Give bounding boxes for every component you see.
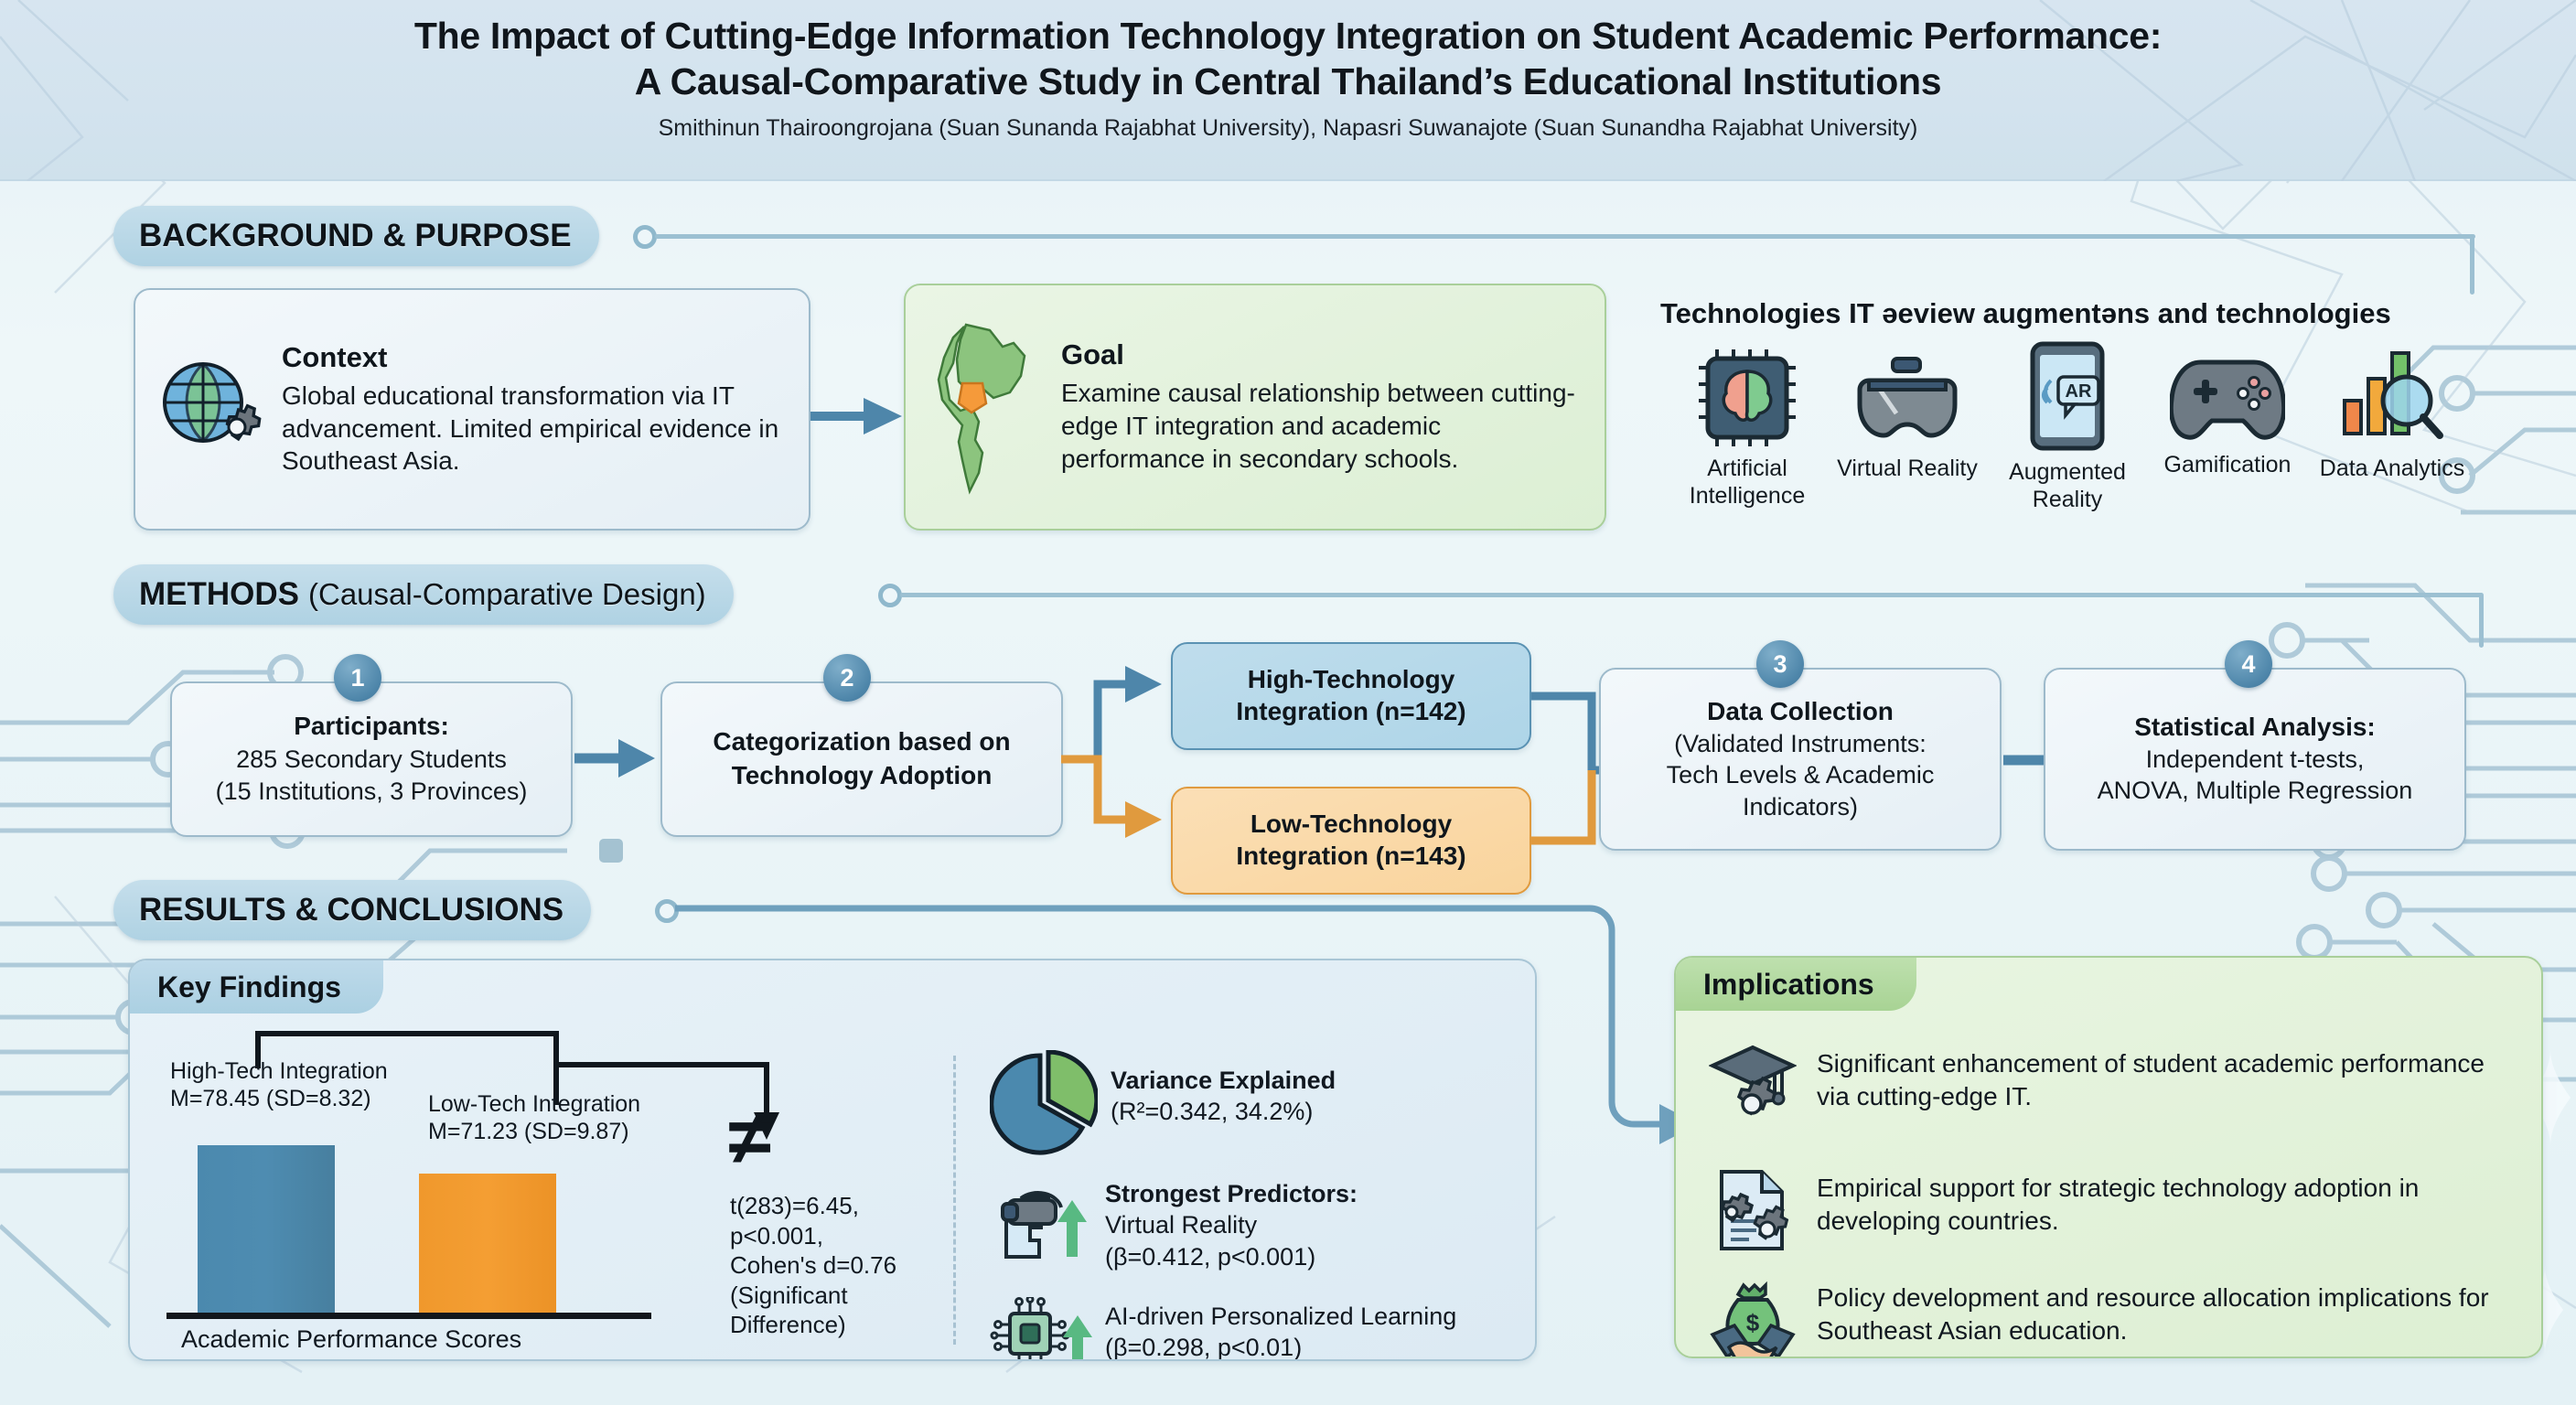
implication-text-2: Empirical support for strategic technolo… <box>1817 1166 2512 1239</box>
section-sublabel-methods: (Causal-Comparative Design) <box>308 577 706 612</box>
context-body: Global educational transformation via IT… <box>282 380 789 477</box>
bar-label-high-tech-stats: M=78.45 (SD=8.32) <box>170 1086 371 1111</box>
methods-rail-corner <box>2479 593 2484 648</box>
methods-step-4-card: Statistical Analysis: Independent t-test… <box>2044 668 2466 851</box>
arrow-step1-to-step2 <box>574 732 659 785</box>
poster-title-line-2: A Causal-Comparative Study in Central Th… <box>0 59 2576 104</box>
predictor-row-vr: Strongest Predictors: Virtual Reality (β… <box>990 1176 1511 1272</box>
background-rail-corner <box>2470 234 2474 295</box>
group-low-tech-card: Low-Technology Integration (n=143) <box>1171 787 1531 895</box>
step-badge-3: 3 <box>1756 640 1804 688</box>
section-label-methods: METHODS <box>139 576 299 613</box>
step-1-line-2: (15 Institutions, 3 Provinces) <box>216 777 528 807</box>
step-1-title: Participants: <box>294 711 449 743</box>
ai-chip-icon <box>990 1297 1092 1361</box>
step-4-line-2: ANOVA, Multiple Regression <box>2098 776 2413 806</box>
technology-item-ai: Artificial Intelligence <box>1660 348 1834 509</box>
implication-row-2: Empirical support for strategic technolo… <box>1709 1166 2514 1254</box>
group-low-tech-line-1: Low-Technology <box>1250 809 1452 841</box>
methods-rail-node <box>878 584 902 607</box>
group-high-tech-line-2: Integration (n=142) <box>1236 696 1465 728</box>
poster-header: The Impact of Cutting-Edge Information T… <box>0 0 2576 181</box>
context-heading: Context <box>282 341 789 374</box>
group-high-tech-line-1: High-Technology <box>1248 664 1455 696</box>
technology-label-analytics: Data Analytics <box>2305 456 2479 483</box>
pie-chart-icon <box>990 1050 1098 1158</box>
vr-head-icon <box>990 1176 1092 1260</box>
technology-item-ar: AR Augmented Reality <box>1980 340 2154 513</box>
technology-label-ar: Augmented Reality <box>1980 459 2154 513</box>
methods-step-2-card: Categorization based on Technology Adopt… <box>660 681 1063 837</box>
poster-canvas: The Impact of Cutting-Edge Information T… <box>0 0 2576 1405</box>
implication-row-3: $ Policy development and resource alloca… <box>1709 1278 2514 1358</box>
svg-text:$: $ <box>1746 1309 1760 1336</box>
implications-tab-label: Implications <box>1703 968 1874 1002</box>
predictor-ai-value: (β=0.298, p<0.01) <box>1105 1334 1302 1361</box>
svg-text:AR: AR <box>2066 381 2092 402</box>
technology-label-gamification: Gamification <box>2141 452 2314 479</box>
thailand-map-icon <box>926 316 1045 499</box>
ar-phone-icon: AR <box>2029 340 2106 452</box>
poster-authors: Smithinun Thairoongrojana (Suan Sunanda … <box>0 115 2576 142</box>
methods-step-3-card: Data Collection (Validated Instruments: … <box>1599 668 2002 851</box>
goal-card: Goal Examine causal relationship between… <box>904 284 1606 531</box>
step-badge-1: 1 <box>334 654 381 702</box>
step-badge-2: 2 <box>823 654 871 702</box>
ai-chip-brain-icon <box>1697 348 1798 448</box>
branch-connector-to-groups <box>1061 640 1171 851</box>
predictor-row-ai: AI-driven Personalized Learning (β=0.298… <box>990 1297 1520 1361</box>
implication-text-3: Policy development and resource allocati… <box>1817 1278 2512 1348</box>
step-3-line-3: Indicators) <box>1743 792 1858 822</box>
goal-heading: Goal <box>1061 338 1584 371</box>
bar-label-high-tech-name: High-Tech Integration <box>170 1058 388 1084</box>
technologies-heading: Technologies IT əeview augmentəns and te… <box>1660 297 2391 330</box>
methods-rail-line <box>900 593 2483 597</box>
technology-item-analytics: Data Analytics <box>2305 340 2479 483</box>
implications-panel: Implications Significant enhancement of … <box>1674 956 2543 1358</box>
context-card: Context Global educational transformatio… <box>134 288 810 531</box>
implications-tab: Implications <box>1676 958 1916 1011</box>
section-header-results: RESULTS & CONCLUSIONS <box>113 880 591 940</box>
step-4-title: Statistical Analysis: <box>2134 712 2376 744</box>
goal-body: Examine causal relationship between cutt… <box>1061 377 1584 475</box>
variance-explained-row: Variance Explained (R²=0.342, 34.2%) <box>990 1050 1511 1158</box>
implication-row-1: Significant enhancement of student acade… <box>1709 1042 2514 1130</box>
bar-low-tech <box>419 1174 556 1317</box>
section-label-background: BACKGROUND & PURPOSE <box>139 218 572 254</box>
chart-axis-label: Academic Performance Scores <box>181 1325 521 1354</box>
vr-headset-icon <box>1852 348 1962 448</box>
step-1-line-1: 285 Secondary Students <box>236 745 507 775</box>
not-equal-symbol: ≠ <box>728 1098 771 1176</box>
step-2-line-1: Categorization based on <box>713 726 1010 758</box>
step-3-title: Data Collection <box>1707 696 1894 728</box>
group-high-tech-card: High-Technology Integration (n=142) <box>1171 642 1531 750</box>
group-low-tech-line-2: Integration (n=143) <box>1236 841 1465 873</box>
variance-value: (R²=0.342, 34.2%) <box>1111 1098 1313 1125</box>
chart-axis-line <box>166 1313 651 1319</box>
step-3-line-1: (Validated Instruments: <box>1674 729 1927 759</box>
step-4-line-1: Independent t-tests, <box>2146 745 2365 775</box>
methods-step-1-card: Participants: 285 Secondary Students (15… <box>170 681 573 837</box>
predictor-vr-value: (β=0.412, p<0.001) <box>1105 1243 1315 1271</box>
background-rail-node <box>633 225 657 249</box>
technology-label-ai: Artificial Intelligence <box>1660 456 1834 509</box>
key-findings-divider <box>953 1056 956 1345</box>
technology-item-gamification: Gamification <box>2141 349 2314 479</box>
document-gears-icon <box>1709 1166 1797 1254</box>
bar-chart-magnifier-icon <box>2337 340 2447 448</box>
step-2-line-2: Technology Adoption <box>732 760 993 792</box>
section-header-methods: METHODS (Causal-Comparative Design) <box>113 564 734 625</box>
implication-text-1: Significant enhancement of student acade… <box>1817 1042 2512 1114</box>
step-3-line-2: Tech Levels & Academic <box>1667 760 1935 790</box>
section-label-results: RESULTS & CONCLUSIONS <box>139 892 563 928</box>
bar-label-low-tech-name: Low-Tech Integration <box>428 1091 640 1117</box>
technology-label-vr: Virtual Reality <box>1820 456 1994 483</box>
bar-label-high-tech: High-Tech Integration M=78.45 (SD=8.32) <box>170 1057 388 1112</box>
background-rail-line <box>655 234 2475 239</box>
key-findings-panel: Key Findings High-Tech Integration M=78.… <box>128 959 1537 1361</box>
gamepad-icon <box>2170 349 2285 445</box>
key-findings-tab: Key Findings <box>130 960 383 1014</box>
variance-title: Variance Explained <box>1111 1067 1336 1094</box>
money-handshake-icon: $ <box>1709 1278 1797 1358</box>
poster-title-line-1: The Impact of Cutting-Edge Information T… <box>0 13 2576 59</box>
significance-statistics: t(283)=6.45, p<0.001, Cohen's d=0.76 (Si… <box>730 1191 904 1340</box>
key-findings-tab-label: Key Findings <box>157 971 341 1004</box>
technology-item-vr: Virtual Reality <box>1820 348 1994 483</box>
predictors-heading: Strongest Predictors: <box>1105 1180 1358 1207</box>
globe-gear-icon <box>156 355 265 465</box>
section-header-background: BACKGROUND & PURPOSE <box>113 206 599 266</box>
predictor-vr-name: Virtual Reality <box>1105 1211 1257 1239</box>
bar-high-tech <box>198 1145 335 1317</box>
graduation-gear-icon <box>1709 1042 1797 1130</box>
step-badge-4: 4 <box>2225 640 2272 688</box>
arrow-context-to-goal <box>810 389 911 444</box>
predictor-ai-name: AI-driven Personalized Learning <box>1105 1303 1456 1330</box>
